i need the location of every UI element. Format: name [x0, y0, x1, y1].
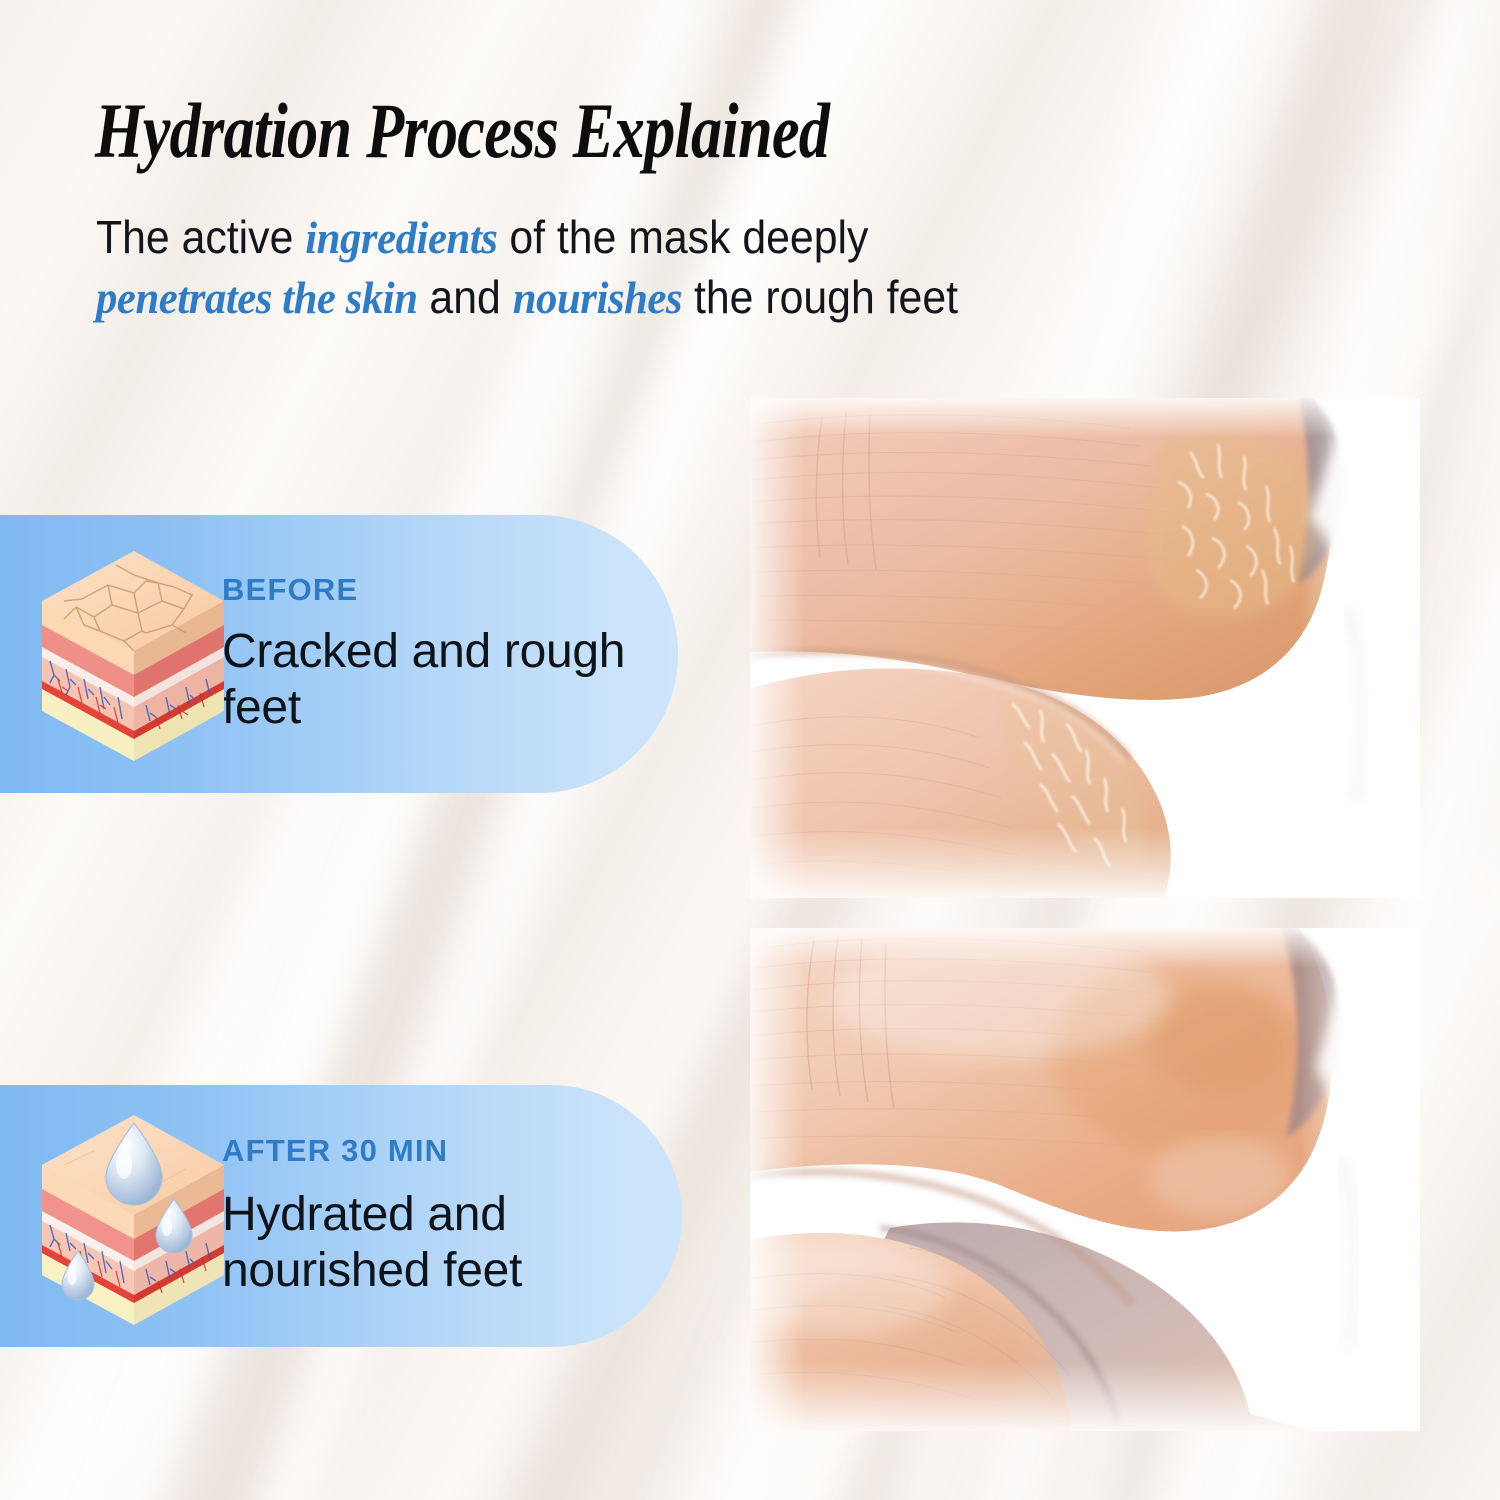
subtitle-emphasis-ingredients: ingredients: [305, 212, 497, 263]
subtitle-text-0: The active: [96, 211, 305, 263]
comparison-card-before: BEFORE Cracked and rough feet: [0, 515, 678, 793]
subtitle-emphasis-nourishes: nourishes: [513, 272, 682, 323]
comparison-text-before: BEFORE Cracked and rough feet: [218, 572, 678, 736]
subtitle-text-2: of the mask deeply: [497, 211, 868, 263]
after-label: AFTER 30 MIN: [222, 1133, 682, 1169]
after-description: Hydrated and nourished feet: [222, 1187, 682, 1299]
hydrated-skin-layers-icon: [0, 1085, 218, 1347]
page-title: Hydration Process Explained: [95, 92, 829, 170]
cracked-dry-heels-photo: [750, 398, 1420, 898]
smooth-hydrated-heels-photo: [750, 928, 1420, 1431]
before-label: BEFORE: [222, 572, 678, 608]
subtitle-text-4: and: [418, 271, 513, 323]
cracked-skin-layers-icon: [0, 515, 218, 793]
infographic-canvas: Hydration Process Explained The active i…: [0, 0, 1500, 1500]
page-subtitle: The active ingredients of the mask deepl…: [96, 208, 1286, 328]
comparison-card-after: AFTER 30 MIN Hydrated and nourished feet: [0, 1085, 682, 1347]
subtitle-text-6: the rough feet: [682, 271, 958, 323]
subtitle-emphasis-penetrates: penetrates the skin: [96, 272, 418, 323]
before-description: Cracked and rough feet: [222, 624, 678, 736]
comparison-text-after: AFTER 30 MIN Hydrated and nourished feet: [218, 1133, 682, 1299]
